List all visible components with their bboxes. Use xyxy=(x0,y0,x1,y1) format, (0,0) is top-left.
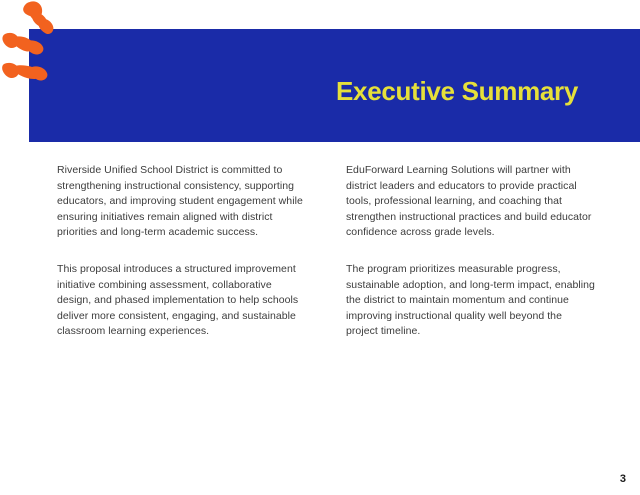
page-number: 3 xyxy=(620,473,626,486)
paragraph: EduForward Learning Solutions will partn… xyxy=(346,163,596,241)
page-title: Executive Summary xyxy=(336,74,596,108)
right-text-column: EduForward Learning Solutions will partn… xyxy=(346,163,596,340)
slide-executive-summary: Executive Summary Riverside Unified Scho… xyxy=(0,0,640,495)
paragraph: The program prioritizes measurable progr… xyxy=(346,262,596,340)
paragraph: Riverside Unified School District is com… xyxy=(57,163,307,241)
left-text-column: Riverside Unified School District is com… xyxy=(57,163,307,340)
paragraph: This proposal introduces a structured im… xyxy=(57,262,307,340)
body-columns: Riverside Unified School District is com… xyxy=(57,163,597,340)
